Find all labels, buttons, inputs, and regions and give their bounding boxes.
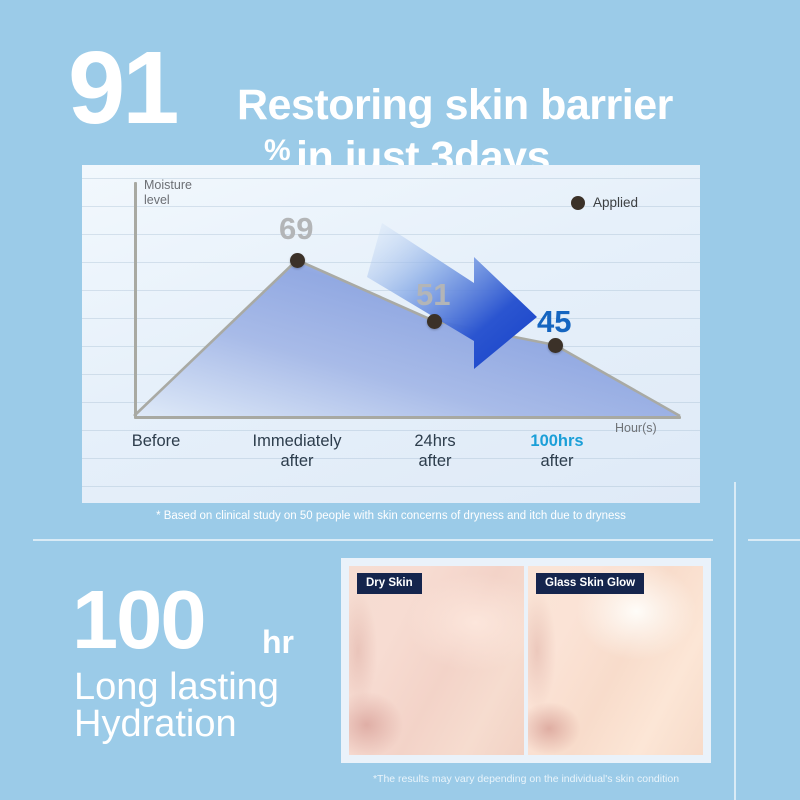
data-label-24hrs: 51 [416,279,450,310]
filled-circle-icon [571,196,585,210]
photo-tag-glass-skin-glow: Glass Skin Glow [536,573,644,594]
y-axis [134,182,137,418]
before-after-photo-panel: Dry Skin Glass Skin Glow [341,558,711,763]
section-divider-horizontal-right [748,539,800,541]
legend-label: Applied [593,195,638,210]
data-point-marker [290,253,305,268]
section-divider-horizontal [33,539,713,541]
x-label-immediately-after: Immediately after [237,431,357,471]
y-axis-label-line-2: level [144,193,170,207]
x-label-100hrs-after: 100hrs after [497,431,617,471]
y-axis-label-line-1: Moisture [144,178,192,192]
data-point-marker [427,314,442,329]
photo-glass-skin-glow: Glass Skin Glow [528,566,703,755]
headline-stat-number: 91 [68,36,177,139]
chart-legend: Applied [571,195,638,210]
x-label-24hrs-after: 24hrs after [375,431,495,471]
data-label-100hrs: 45 [537,306,571,337]
bottom-line-2: Hydration [74,703,237,747]
headline-stat-unit: % [264,136,291,166]
headline-line-1: Restoring skin barrier [237,84,673,127]
photo-dry-skin: Dry Skin [349,566,524,755]
x-axis [134,416,681,419]
section-divider-vertical [734,482,736,800]
bottom-stat-unit: hr [262,626,294,658]
chart-footnote: * Based on clinical study on 50 people w… [82,510,700,522]
photo-tag-dry-skin: Dry Skin [357,573,422,594]
chart-card: Moisture level Hour(s) Applied 69 51 45 … [82,165,700,503]
y-axis-label: Moisture level [144,178,192,208]
data-label-peak: 69 [279,213,313,244]
data-point-marker [548,338,563,353]
headline-block: 91 % Restoring skin barrier in just 3day… [68,40,748,158]
x-label-before: Before [96,431,216,451]
bottom-stat-number: 100 [72,578,204,661]
x-axis-categories: Before Immediately after 24hrs after 100… [82,431,700,491]
photo-disclaimer: *The results may vary depending on the i… [341,773,711,785]
